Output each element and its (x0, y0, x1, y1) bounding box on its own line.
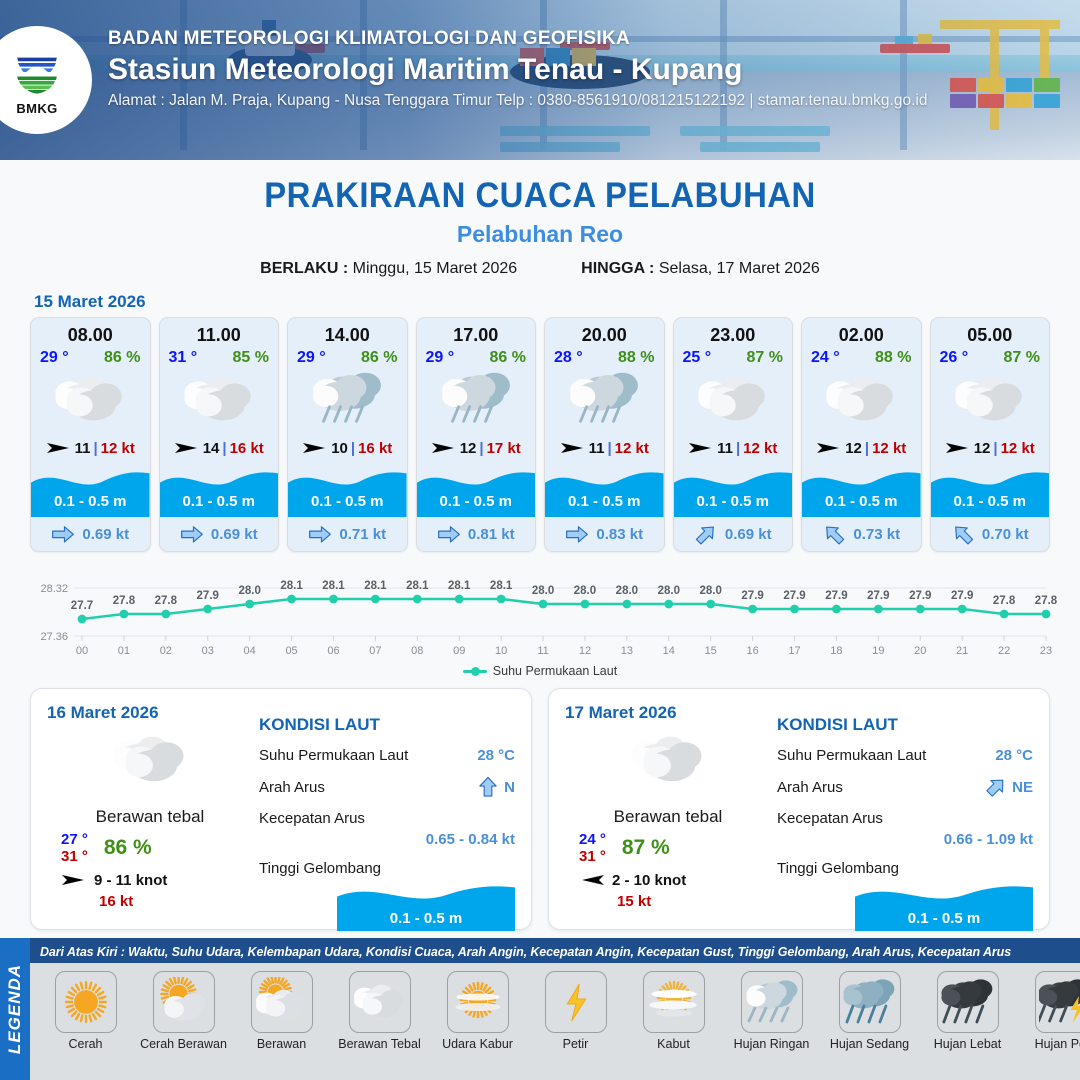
summary-wind-range: 2 - 10 knot (612, 872, 686, 889)
berawan-tebal-icon (349, 971, 411, 1033)
legend-item-label: Berawan Tebal (338, 1037, 420, 1051)
card-current-speed: 0.73 kt (853, 526, 900, 543)
svg-text:01: 01 (118, 645, 130, 657)
summary-date: 17 Maret 2026 (565, 703, 771, 723)
summary-temp-hum-row: 24 ° 31 ° 87 % (565, 831, 771, 865)
card-wind-row: 11 | 12 kt (545, 431, 664, 465)
card-current-row: 0.83 kt (545, 517, 664, 551)
daily-summary-panel: 17 Maret 2026 Berawan tebal 24 ° 31 ° 87… (548, 688, 1050, 930)
current-direction-row: Arah Arus NE (777, 776, 1033, 798)
card-wave-block: 0.1 - 0.5 m (545, 465, 664, 517)
summary-wave-block: 0.1 - 0.5 m (259, 879, 515, 935)
card-wave-block: 0.1 - 0.5 m (288, 465, 407, 517)
card-weather-icon (31, 369, 150, 431)
card-wind-speed: 10 (331, 440, 348, 457)
wind-gust-separator: | (865, 440, 869, 457)
sea-conditions-title: KONDISI LAUT (259, 715, 515, 735)
legend-item-label: Petir (563, 1037, 589, 1051)
header-text-block: BADAN METEOROLOGI KLIMATOLOGI DAN GEOFIS… (108, 28, 927, 110)
cerah-berawan-icon (153, 971, 215, 1033)
card-wind-gust: 12 kt (743, 440, 777, 457)
card-temperature: 25 ° (683, 349, 712, 367)
bmkg-emblem-icon (10, 44, 64, 100)
summary-condition: Berawan tebal (47, 807, 253, 827)
card-weather-icon (545, 369, 664, 431)
card-wind-gust: 12 kt (101, 440, 135, 457)
svg-text:17: 17 (788, 645, 800, 657)
summary-sea-conditions: KONDISI LAUT Suhu Permukaan Laut 28 °C A… (771, 703, 1033, 915)
card-wind-gust: 12 kt (615, 440, 649, 457)
hingga-label: HINGGA : (581, 260, 654, 277)
svg-text:27.9: 27.9 (741, 590, 763, 602)
current-direction-value-group: N (478, 776, 515, 798)
hujan-petir-icon (1035, 971, 1080, 1033)
svg-text:28.32: 28.32 (40, 583, 68, 595)
svg-text:27.9: 27.9 (951, 590, 973, 602)
card-wind-gust: 17 kt (487, 440, 521, 457)
current-direction-arrow-icon (180, 525, 204, 544)
wind-gust-separator: | (607, 440, 611, 457)
summary-wind-direction-arrow-icon (579, 872, 605, 888)
forecast-card: 14.00 29 ° 86 % 10 | 16 kt 0.1 - (287, 317, 408, 552)
summary-wave-height: 0.1 - 0.5 m (337, 910, 515, 927)
card-weather-icon (931, 369, 1050, 431)
card-current-row: 0.81 kt (417, 517, 536, 551)
card-wind-speed: 14 (203, 440, 220, 457)
card-wave-block: 0.1 - 0.5 m (931, 465, 1050, 517)
card-wind-gust: 12 kt (1001, 440, 1035, 457)
summary-humidity: 87 % (622, 836, 670, 860)
summary-weather-icon (47, 729, 253, 791)
svg-text:20: 20 (914, 645, 926, 657)
card-current-speed: 0.81 kt (468, 526, 515, 543)
svg-text:28.1: 28.1 (448, 580, 471, 592)
current-direction-label: Arah Arus (259, 779, 325, 796)
summary-current-direction-arrow-icon (986, 776, 1006, 798)
sst-chart: 28.3227.36000102030405060708091011121314… (20, 562, 1060, 682)
hujan-ringan-icon (741, 971, 803, 1033)
svg-text:28.1: 28.1 (322, 580, 345, 592)
card-weather-icon (160, 369, 279, 431)
card-current-row: 0.69 kt (674, 517, 793, 551)
svg-text:15: 15 (705, 645, 717, 657)
current-direction-arrow-icon (565, 525, 589, 544)
card-current-row: 0.69 kt (31, 517, 150, 551)
legend-item-label: Hujan Ringan (734, 1037, 810, 1051)
svg-text:28.1: 28.1 (406, 580, 429, 592)
kabut-icon (643, 971, 705, 1033)
forecast-card: 20.00 28 ° 88 % 11 | 12 kt 0.1 - (544, 317, 665, 552)
svg-text:28.0: 28.0 (658, 585, 680, 597)
card-wind-gust: 16 kt (230, 440, 264, 457)
card-current-speed: 0.70 kt (982, 526, 1029, 543)
current-direction-arrow-icon (951, 525, 975, 544)
card-wave-height: 0.1 - 0.5 m (674, 493, 793, 510)
card-current-row: 0.69 kt (160, 517, 279, 551)
svg-text:27.8: 27.8 (113, 595, 136, 607)
wind-gust-separator: | (993, 440, 997, 457)
forecast-card: 11.00 31 ° 85 % 14 | 16 kt 0.1 - (159, 317, 280, 552)
svg-text:11: 11 (537, 645, 548, 657)
forecast-card: 05.00 26 ° 87 % 12 | 12 kt 0.1 - (930, 317, 1051, 552)
legend-item: Berawan Tebal (332, 971, 427, 1051)
svg-text:08: 08 (411, 645, 423, 657)
bmkg-logo-text: BMKG (16, 101, 57, 116)
current-speed-value: 0.65 - 0.84 kt (259, 831, 515, 848)
wind-direction-arrow-icon (46, 440, 72, 456)
card-wind-speed: 11 (75, 440, 91, 457)
svg-text:27.9: 27.9 (825, 590, 847, 602)
svg-text:21: 21 (956, 645, 968, 657)
summary-wave-height: 0.1 - 0.5 m (855, 910, 1033, 927)
svg-text:27.9: 27.9 (909, 590, 931, 602)
card-time: 02.00 (802, 318, 921, 346)
sst-chart-legend: Suhu Permukaan Laut (20, 664, 1060, 678)
card-wave-height: 0.1 - 0.5 m (931, 493, 1050, 510)
sst-value: 28 °C (477, 747, 515, 764)
wave-height-label: Tinggi Gelombang (777, 860, 1033, 877)
card-humidity: 86 % (104, 349, 140, 367)
card-current-row: 0.70 kt (931, 517, 1050, 551)
card-wave-height: 0.1 - 0.5 m (417, 493, 536, 510)
svg-text:27.9: 27.9 (783, 590, 805, 602)
current-direction-arrow-icon (437, 525, 461, 544)
daily-summary-panel: 16 Maret 2026 Berawan tebal 27 ° 31 ° 86… (30, 688, 532, 930)
forecast-card: 17.00 29 ° 86 % 12 | 17 kt 0.1 - (416, 317, 537, 552)
summary-wind-row: 9 - 11 knot (47, 872, 253, 889)
card-current-speed: 0.71 kt (339, 526, 386, 543)
wind-gust-separator: | (479, 440, 483, 457)
summary-wave-block: 0.1 - 0.5 m (777, 879, 1033, 935)
legend-main: Dari Atas Kiri : Waktu, Suhu Udara, Kele… (30, 938, 1080, 1080)
card-wind-speed: 11 (589, 440, 605, 457)
legend-item-label: Cerah (68, 1037, 102, 1051)
svg-text:28.1: 28.1 (490, 580, 513, 592)
current-direction-label: Arah Arus (777, 779, 843, 796)
summary-temp-min: 24 ° (579, 831, 606, 848)
berawan-icon (251, 971, 313, 1033)
sst-chart-svg: 28.3227.36000102030405060708091011121314… (20, 562, 1060, 662)
current-direction-arrow-icon (822, 525, 846, 544)
forecast-cards-row: 08.00 29 ° 86 % 11 | 12 kt 0.1 - (0, 317, 1080, 552)
card-weather-icon (674, 369, 793, 431)
card-current-speed: 0.69 kt (82, 526, 129, 543)
card-temperature: 29 ° (426, 349, 455, 367)
svg-text:02: 02 (160, 645, 172, 657)
validity-row: BERLAKU : Minggu, 15 Maret 2026 HINGGA :… (0, 260, 1080, 278)
card-wind-row: 12 | 17 kt (417, 431, 536, 465)
svg-text:27.8: 27.8 (155, 595, 178, 607)
wind-gust-separator: | (93, 440, 97, 457)
card-wave-block: 0.1 - 0.5 m (160, 465, 279, 517)
svg-text:22: 22 (998, 645, 1010, 657)
wind-direction-arrow-icon (174, 440, 200, 456)
svg-text:28.0: 28.0 (532, 585, 554, 597)
summary-temp-max: 31 ° (579, 848, 606, 865)
card-time: 11.00 (160, 318, 279, 346)
card-weather-icon (417, 369, 536, 431)
svg-text:27.9: 27.9 (867, 590, 889, 602)
berlaku-value: Minggu, 15 Maret 2026 (353, 260, 518, 277)
legend-item-label: Hujan Sedang (830, 1037, 909, 1051)
svg-text:27.8: 27.8 (993, 595, 1016, 607)
summary-wind-gust: 15 kt (565, 893, 771, 910)
legend-item-label: Kabut (657, 1037, 690, 1051)
svg-text:27.8: 27.8 (1035, 595, 1058, 607)
sst-value: 28 °C (995, 747, 1033, 764)
wind-gust-separator: | (222, 440, 226, 457)
wind-gust-separator: | (351, 440, 355, 457)
legend-item: Berawan (234, 971, 329, 1051)
current-speed-value: 0.66 - 1.09 kt (777, 831, 1033, 848)
svg-text:28.0: 28.0 (574, 585, 596, 597)
card-humidity: 86 % (361, 349, 397, 367)
card-wave-block: 0.1 - 0.5 m (674, 465, 793, 517)
svg-text:23: 23 (1040, 645, 1052, 657)
sea-conditions-title: KONDISI LAUT (777, 715, 1033, 735)
card-current-speed: 0.83 kt (596, 526, 643, 543)
current-speed-label: Kecepatan Arus (777, 810, 1033, 827)
svg-text:28.0: 28.0 (700, 585, 722, 597)
summary-wind-direction-arrow-icon (61, 872, 87, 888)
card-current-speed: 0.69 kt (211, 526, 258, 543)
card-wind-row: 12 | 12 kt (931, 431, 1050, 465)
card-humidity: 85 % (233, 349, 269, 367)
card-time: 08.00 (31, 318, 150, 346)
forecast-day-label: 15 Maret 2026 (34, 292, 1080, 312)
card-wind-speed: 12 (974, 440, 991, 457)
legend-item-label: Hujan Lebat (934, 1037, 1001, 1051)
svg-text:18: 18 (830, 645, 842, 657)
sst-legend-marker-icon (463, 670, 487, 673)
svg-text:05: 05 (285, 645, 297, 657)
legend-item-label: Cerah Berawan (140, 1037, 227, 1051)
current-direction-arrow-icon (51, 525, 75, 544)
svg-text:27.36: 27.36 (40, 631, 68, 643)
legend-item: Udara Kabur (430, 971, 525, 1051)
wind-direction-arrow-icon (688, 440, 714, 456)
sst-label: Suhu Permukaan Laut (777, 747, 926, 764)
svg-text:09: 09 (453, 645, 465, 657)
current-direction-row: Arah Arus N (259, 776, 515, 798)
legend-item: Kabut (626, 971, 721, 1051)
hujan-sedang-icon (839, 971, 901, 1033)
summary-current-direction-arrow-icon (478, 776, 498, 798)
card-temperature: 29 ° (297, 349, 326, 367)
wind-direction-arrow-icon (945, 440, 971, 456)
agency-name: BADAN METEOROLOGI KLIMATOLOGI DAN GEOFIS… (108, 28, 927, 50)
card-temperature: 31 ° (169, 349, 198, 367)
svg-text:00: 00 (76, 645, 88, 657)
card-wind-speed: 12 (460, 440, 477, 457)
svg-text:19: 19 (872, 645, 884, 657)
sst-label: Suhu Permukaan Laut (259, 747, 408, 764)
sst-legend-label: Suhu Permukaan Laut (493, 664, 617, 678)
legend-item: Hujan Ringan (724, 971, 819, 1051)
card-wave-block: 0.1 - 0.5 m (417, 465, 536, 517)
wind-direction-arrow-icon (431, 440, 457, 456)
legend-item: Hujan Lebat (920, 971, 1015, 1051)
svg-text:12: 12 (579, 645, 591, 657)
current-speed-label: Kecepatan Arus (259, 810, 515, 827)
card-humidity: 86 % (490, 349, 526, 367)
card-time: 05.00 (931, 318, 1050, 346)
legend-side-tab: LEGENDA (0, 938, 30, 1080)
svg-text:27.7: 27.7 (71, 600, 93, 612)
card-time: 17.00 (417, 318, 536, 346)
card-wave-block: 0.1 - 0.5 m (802, 465, 921, 517)
card-wind-speed: 12 (845, 440, 862, 457)
current-direction-value-group: NE (986, 776, 1033, 798)
svg-text:07: 07 (369, 645, 381, 657)
card-current-row: 0.71 kt (288, 517, 407, 551)
summary-temp-hum-row: 27 ° 31 ° 86 % (47, 831, 253, 865)
card-wave-height: 0.1 - 0.5 m (545, 493, 664, 510)
card-wind-gust: 16 kt (358, 440, 392, 457)
card-temperature: 28 ° (554, 349, 583, 367)
svg-text:27.9: 27.9 (197, 590, 219, 602)
summary-temp-min: 27 ° (61, 831, 88, 848)
card-wave-block: 0.1 - 0.5 m (31, 465, 150, 517)
title-block: PRAKIRAAN CUACA PELABUHAN Pelabuhan Reo … (0, 176, 1080, 278)
summary-wind-gust: 16 kt (47, 893, 253, 910)
card-wave-height: 0.1 - 0.5 m (802, 493, 921, 510)
card-time: 23.00 (674, 318, 793, 346)
summary-date: 16 Maret 2026 (47, 703, 253, 723)
summary-temp-max: 31 ° (61, 848, 88, 865)
legend-item: Hujan Petir (1018, 971, 1080, 1051)
svg-text:10: 10 (495, 645, 507, 657)
card-temperature: 26 ° (940, 349, 969, 367)
summary-weather-icon (565, 729, 771, 791)
current-direction-value: NE (1012, 779, 1033, 796)
wave-height-label: Tinggi Gelombang (259, 860, 515, 877)
legend-items-row: Cerah Cerah Berawan Berawan Berawan Teba… (30, 963, 1080, 1080)
petir-icon (545, 971, 607, 1033)
card-weather-icon (802, 369, 921, 431)
page-title: PRAKIRAAN CUACA PELABUHAN (32, 176, 1047, 216)
svg-text:16: 16 (746, 645, 758, 657)
summary-left: 16 Maret 2026 Berawan tebal 27 ° 31 ° 86… (47, 703, 253, 915)
legend-item: Cerah (38, 971, 133, 1051)
legend-item: Petir (528, 971, 623, 1051)
summary-left: 17 Maret 2026 Berawan tebal 24 ° 31 ° 87… (565, 703, 771, 915)
sst-row: Suhu Permukaan Laut 28 °C (259, 747, 515, 764)
wind-gust-separator: | (736, 440, 740, 457)
card-wind-row: 14 | 16 kt (160, 431, 279, 465)
legend-note: Dari Atas Kiri : Waktu, Suhu Udara, Kele… (30, 938, 1080, 963)
card-time: 20.00 (545, 318, 664, 346)
summary-wind-range: 9 - 11 knot (94, 872, 167, 889)
card-temperature: 29 ° (40, 349, 69, 367)
card-wind-gust: 12 kt (872, 440, 906, 457)
svg-text:06: 06 (327, 645, 339, 657)
svg-text:28.0: 28.0 (616, 585, 638, 597)
card-wind-row: 11 | 12 kt (31, 431, 150, 465)
hingga-group: HINGGA : Selasa, 17 Maret 2026 (581, 260, 820, 278)
summary-humidity: 86 % (104, 836, 152, 860)
card-temperature: 24 ° (811, 349, 840, 367)
card-wind-row: 12 | 12 kt (802, 431, 921, 465)
svg-text:28.1: 28.1 (364, 580, 387, 592)
berlaku-group: BERLAKU : Minggu, 15 Maret 2026 (260, 260, 517, 278)
card-weather-icon (288, 369, 407, 431)
cerah-icon (55, 971, 117, 1033)
card-wave-height: 0.1 - 0.5 m (31, 493, 150, 510)
legend-item-label: Udara Kabur (442, 1037, 513, 1051)
hujan-lebat-icon (937, 971, 999, 1033)
card-wind-speed: 11 (717, 440, 733, 457)
legend-side-label: LEGENDA (5, 964, 25, 1054)
card-humidity: 88 % (875, 349, 911, 367)
svg-text:28.1: 28.1 (280, 580, 303, 592)
current-direction-value: N (504, 779, 515, 796)
wind-direction-arrow-icon (302, 440, 328, 456)
card-wind-row: 11 | 12 kt (674, 431, 793, 465)
page-header: BMKG BADAN METEOROLOGI KLIMATOLOGI DAN G… (0, 0, 1080, 160)
wind-direction-arrow-icon (560, 440, 586, 456)
summary-temps: 27 ° 31 ° (61, 831, 88, 865)
port-name: Pelabuhan Reo (0, 221, 1080, 248)
svg-text:28.0: 28.0 (238, 585, 260, 597)
hingga-value: Selasa, 17 Maret 2026 (659, 260, 820, 277)
daily-summary-row: 16 Maret 2026 Berawan tebal 27 ° 31 ° 86… (0, 688, 1080, 930)
berlaku-label: BERLAKU : (260, 260, 348, 277)
summary-condition: Berawan tebal (565, 807, 771, 827)
udara-kabur-icon (447, 971, 509, 1033)
card-humidity: 87 % (1004, 349, 1040, 367)
card-humidity: 88 % (618, 349, 654, 367)
legend-item-label: Berawan (257, 1037, 306, 1051)
current-direction-arrow-icon (308, 525, 332, 544)
legend-item: Hujan Sedang (822, 971, 917, 1051)
legend-item: Cerah Berawan (136, 971, 231, 1051)
forecast-card: 23.00 25 ° 87 % 11 | 12 kt 0.1 - (673, 317, 794, 552)
card-time: 14.00 (288, 318, 407, 346)
card-current-row: 0.73 kt (802, 517, 921, 551)
svg-text:13: 13 (621, 645, 633, 657)
legend-bar: LEGENDA Dari Atas Kiri : Waktu, Suhu Uda… (0, 938, 1080, 1080)
current-direction-arrow-icon (694, 525, 718, 544)
station-address: Alamat : Jalan M. Praja, Kupang - Nusa T… (108, 92, 927, 110)
card-wind-row: 10 | 16 kt (288, 431, 407, 465)
card-humidity: 87 % (747, 349, 783, 367)
card-current-speed: 0.69 kt (725, 526, 772, 543)
legend-item-label: Hujan Petir (1035, 1037, 1080, 1051)
svg-text:04: 04 (244, 645, 256, 657)
svg-text:03: 03 (202, 645, 214, 657)
svg-text:14: 14 (663, 645, 675, 657)
station-name: Stasiun Meteorologi Maritim Tenau - Kupa… (108, 53, 927, 87)
forecast-card: 08.00 29 ° 86 % 11 | 12 kt 0.1 - (30, 317, 151, 552)
forecast-card: 02.00 24 ° 88 % 12 | 12 kt 0.1 - (801, 317, 922, 552)
summary-sea-conditions: KONDISI LAUT Suhu Permukaan Laut 28 °C A… (253, 703, 515, 915)
card-wave-height: 0.1 - 0.5 m (288, 493, 407, 510)
sst-row: Suhu Permukaan Laut 28 °C (777, 747, 1033, 764)
summary-wind-row: 2 - 10 knot (565, 872, 771, 889)
summary-temps: 24 ° 31 ° (579, 831, 606, 865)
wind-direction-arrow-icon (816, 440, 842, 456)
card-wave-height: 0.1 - 0.5 m (160, 493, 279, 510)
